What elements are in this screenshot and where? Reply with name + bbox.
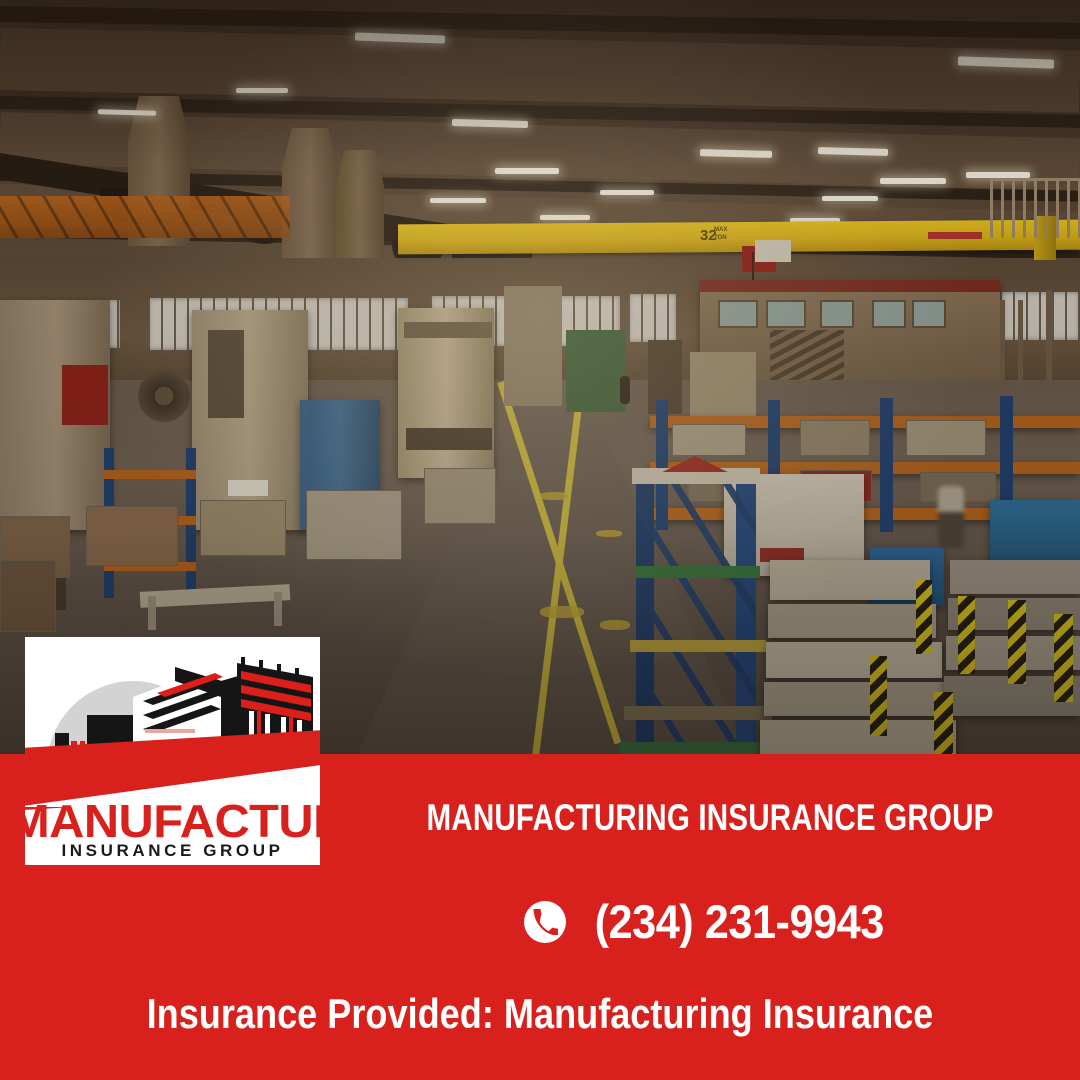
clerestory-windows <box>1000 292 1080 340</box>
rack-shelf-beam <box>624 706 772 720</box>
metal-sheet-stack <box>950 560 1080 594</box>
crane-hoist-box <box>755 240 791 262</box>
office-window <box>766 300 806 328</box>
office-window <box>820 300 854 328</box>
floor-crate <box>306 490 402 560</box>
ceiling-light <box>822 196 878 201</box>
ceiling-light <box>540 215 590 220</box>
press-head <box>404 322 492 338</box>
floor-crate <box>0 560 56 632</box>
blue-machine <box>990 500 1080 562</box>
office-stair <box>770 330 844 384</box>
floor-crate <box>200 500 286 556</box>
floor-marking <box>596 530 622 537</box>
company-logo: MANUFACTURING INSURANCE GROUP <box>25 637 320 865</box>
social-media-ad-card: 32 MAX TON <box>0 0 1080 1080</box>
press-bed <box>406 428 492 450</box>
background-machine <box>566 330 626 412</box>
rack-shelf-beam <box>636 566 760 578</box>
company-title: MANUFACTURING INSURANCE GROUP <box>414 797 1006 839</box>
machine-red-panel <box>62 365 108 425</box>
rack-shelf-beam <box>630 640 766 652</box>
mezzanine-railing <box>990 178 1080 238</box>
phone-row[interactable]: (234) 231-9943 <box>340 894 1080 949</box>
hazard-stand <box>916 580 932 654</box>
work-table <box>274 592 282 626</box>
hazard-stand <box>934 692 953 760</box>
cabinet-label <box>228 480 268 496</box>
cabinet-door <box>208 330 244 418</box>
background-machine <box>504 286 562 406</box>
work-table <box>148 596 156 630</box>
shelf-box <box>800 420 870 456</box>
floor-crate <box>424 468 496 524</box>
industrial-fan <box>138 370 190 422</box>
hazard-stand <box>870 656 887 736</box>
ceiling-light <box>236 88 288 93</box>
orange-crane-truss <box>0 196 290 238</box>
crane-name-plate <box>928 232 982 239</box>
pallet-stack <box>764 682 950 716</box>
hazard-stand <box>958 596 975 674</box>
worker-blurred <box>938 486 964 548</box>
ceiling-light <box>495 168 559 174</box>
clerestory-windows <box>628 294 676 342</box>
pallet-stack <box>770 560 930 600</box>
floor-marking <box>540 492 568 500</box>
office-window <box>912 300 946 328</box>
crane-capacity-unit: MAX TON <box>714 226 736 242</box>
phone-number[interactable]: (234) 231-9943 <box>594 894 883 949</box>
shelf-box <box>906 420 986 456</box>
pallet-stack <box>768 604 936 638</box>
ceiling-light <box>880 178 946 184</box>
floor-marking <box>540 606 584 618</box>
ceiling-column <box>282 128 338 260</box>
insurance-provided-line: Insurance Provided: Manufacturing Insura… <box>76 990 1005 1038</box>
office-window <box>872 300 906 328</box>
ceiling-light <box>600 190 654 195</box>
hazard-stand <box>1008 600 1026 684</box>
background-worker <box>620 376 630 404</box>
shelf-box <box>672 424 746 456</box>
office-window <box>718 300 758 328</box>
background-machine <box>690 352 756 418</box>
hazard-stand <box>1054 614 1073 702</box>
office-roof-band <box>700 280 1000 292</box>
phone-circle-icon <box>524 901 566 943</box>
ceiling-column <box>336 150 384 268</box>
ceiling-light <box>430 198 486 203</box>
rack-post <box>880 398 893 532</box>
floor-crate <box>86 506 178 566</box>
rack-beam <box>104 470 196 479</box>
floor-marking <box>600 620 630 630</box>
logo-wordmark: MANUFACTURING <box>25 794 320 848</box>
logo-subtitle: INSURANCE GROUP <box>25 841 320 861</box>
